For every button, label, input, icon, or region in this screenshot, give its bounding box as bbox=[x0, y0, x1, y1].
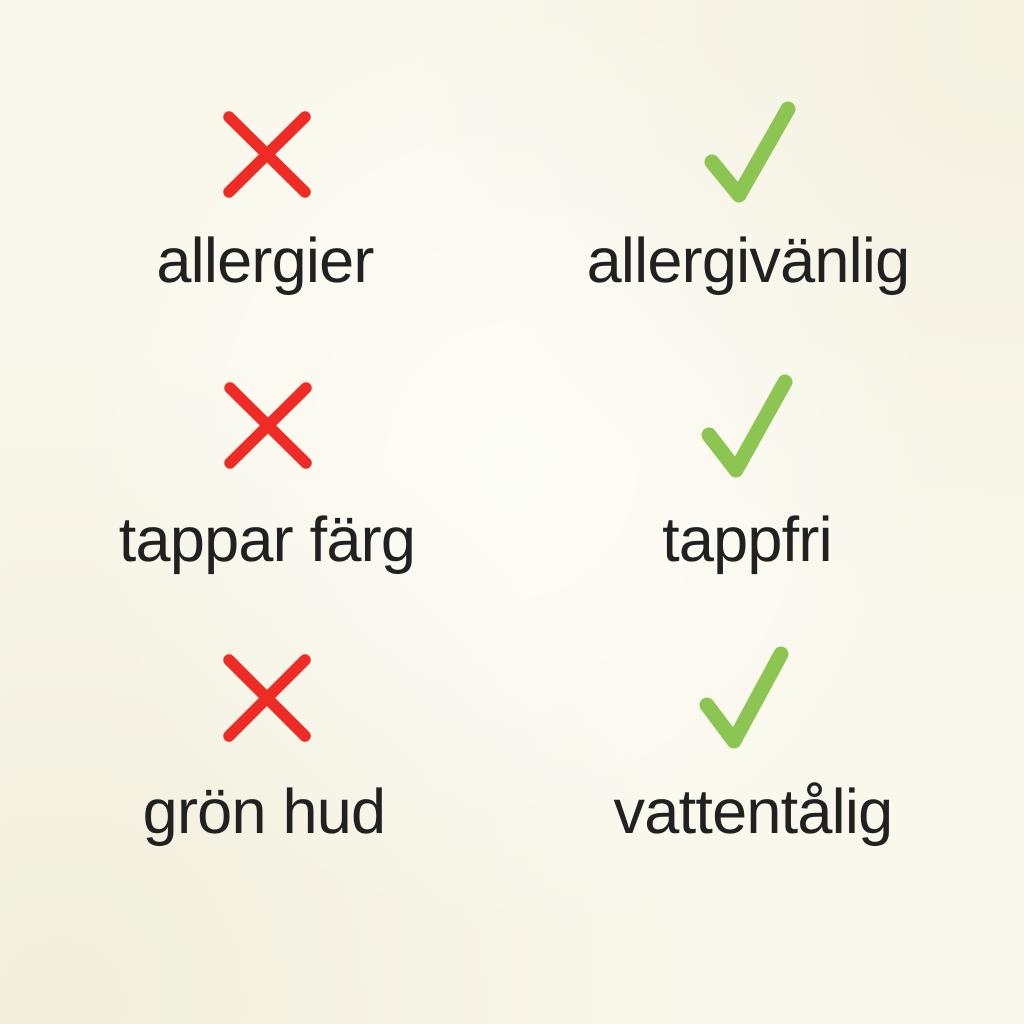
comparison-cell-positive-3: vattentålig bbox=[520, 641, 980, 844]
cross-icon bbox=[208, 369, 328, 481]
comparison-cell-positive-2: tappfri bbox=[520, 369, 980, 572]
check-icon bbox=[685, 641, 805, 753]
comparison-label: vattentålig bbox=[614, 781, 893, 844]
comparison-cell-negative-2: tappar färg bbox=[40, 369, 490, 572]
comparison-label: tappfri bbox=[662, 509, 832, 572]
comparison-grid: allergier allergivänlig tappar färg bbox=[0, 0, 1024, 1024]
comparison-cell-negative-1: allergier bbox=[40, 96, 490, 293]
comparison-cell-negative-3: grön hud bbox=[40, 641, 490, 844]
check-icon bbox=[687, 369, 807, 481]
comparison-cell-positive-1: allergivänlig bbox=[520, 96, 980, 293]
comparison-label: grön hud bbox=[143, 781, 386, 844]
comparison-label: tappar färg bbox=[119, 509, 415, 572]
cross-icon bbox=[207, 96, 327, 208]
comparison-graphic: allergier allergivänlig tappar färg bbox=[0, 0, 1024, 1024]
comparison-label: allergier bbox=[156, 230, 373, 293]
cross-icon bbox=[207, 641, 327, 753]
comparison-label: allergivänlig bbox=[587, 230, 910, 293]
check-icon bbox=[690, 96, 810, 208]
